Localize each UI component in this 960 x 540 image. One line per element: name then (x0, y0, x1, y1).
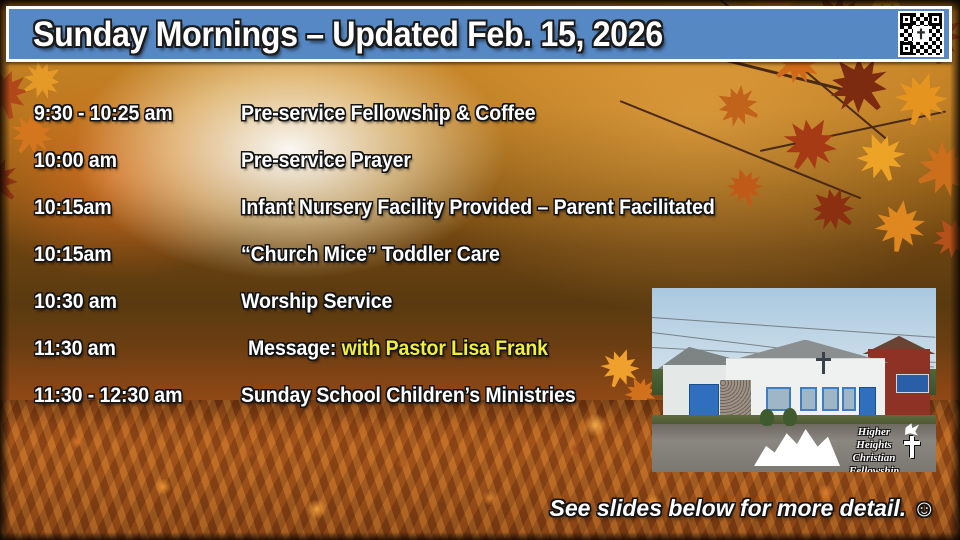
footer-note: See slides below for more detail. ☺ (550, 495, 937, 522)
church-window (822, 387, 839, 411)
schedule-time: 11:30 am (34, 337, 116, 361)
logo-line-2: Christian Fellowship (840, 452, 908, 472)
church-logo: Higher Heights Christian Fellowship (754, 420, 930, 468)
church-window (800, 387, 817, 411)
edge-shadow-bottom (0, 532, 960, 540)
schedule-row: 10:15am “Church Mice” Toddler Care (0, 237, 700, 284)
roof-cross-icon (822, 352, 825, 374)
logo-text: Higher Heights Christian Fellowship (840, 426, 908, 472)
qr-modules: ✝ (900, 13, 942, 55)
schedule-description: Worship Service (241, 290, 392, 314)
slide-canvas: Sunday Mornings – Updated Feb. 15, 2026 … (0, 0, 960, 540)
schedule-row: 11:30 - 12:30 am Sunday School Children’… (0, 378, 700, 425)
message-label: Message: (248, 337, 342, 360)
schedule-row: 10:00 am Pre-service Prayer (0, 143, 700, 190)
schedule-time: 10:15am (34, 243, 112, 267)
title-banner: Sunday Mornings – Updated Feb. 15, 2026 (6, 6, 952, 62)
schedule-row-message: 11:30 am Message: with Pastor Lisa Frank (0, 331, 700, 378)
page-title: Sunday Mornings – Updated Feb. 15, 2026 (33, 15, 663, 55)
church-building-photo: Higher Heights Christian Fellowship (652, 288, 936, 472)
qr-code-icon[interactable]: ✝ (898, 11, 944, 57)
church-window (842, 387, 856, 411)
mountain-icon (754, 424, 840, 466)
cross-icon: ✝ (913, 26, 929, 42)
schedule-time: 9:30 - 10:25 am (34, 102, 173, 126)
schedule-description: Infant Nursery Facility Provided – Paren… (241, 196, 715, 220)
qr-finder-top-right (929, 13, 942, 26)
schedule-description: Pre-service Fellowship & Coffee (241, 102, 536, 126)
schedule-row: 9:30 - 10:25 am Pre-service Fellowship &… (0, 96, 700, 143)
schedule-description: “Church Mice” Toddler Care (241, 243, 500, 267)
schedule-list: 9:30 - 10:25 am Pre-service Fellowship &… (0, 96, 700, 425)
schedule-time: 10:00 am (34, 149, 117, 173)
schedule-row: 10:15am Infant Nursery Facility Provided… (0, 190, 700, 237)
schedule-time: 10:30 am (34, 290, 117, 314)
cross-icon (910, 436, 914, 458)
church-street-sign (896, 374, 929, 393)
qr-finder-top-left (900, 13, 913, 26)
logo-line-1: Higher Heights (840, 426, 908, 452)
schedule-time: 11:30 - 12:30 am (34, 384, 182, 408)
schedule-description: Sunday School Children’s Ministries (241, 384, 576, 408)
schedule-description: Pre-service Prayer (241, 149, 411, 173)
speaker-highlight: with Pastor Lisa Frank (342, 337, 548, 360)
schedule-row: 10:30 am Worship Service (0, 284, 700, 331)
edge-shadow-right (950, 0, 960, 540)
qr-finder-bottom-left (900, 42, 913, 55)
schedule-description: Message: with Pastor Lisa Frank (248, 337, 548, 361)
schedule-time: 10:15am (34, 196, 112, 220)
